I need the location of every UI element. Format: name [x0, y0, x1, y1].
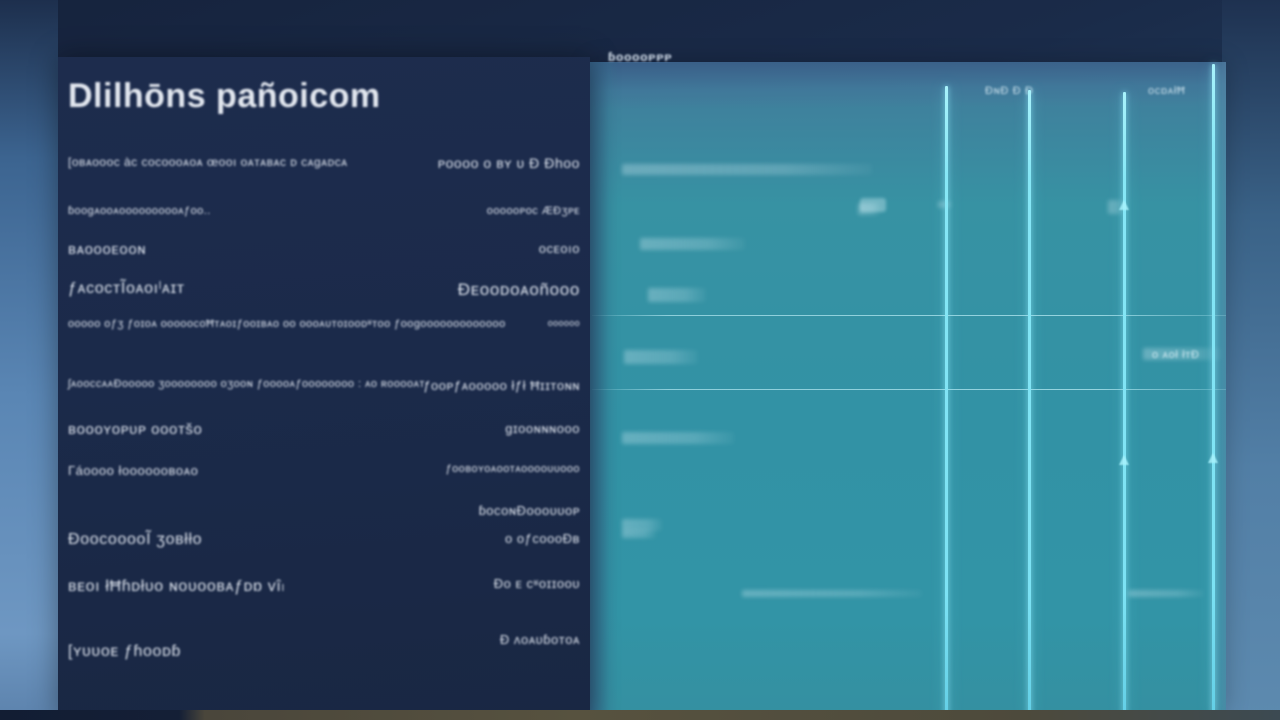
- page-title: Dlilhōns pañoicom: [68, 77, 381, 116]
- detail-row: ʙᴏᴏᴏʏᴏᴘᴜᴘ ᴏᴏᴏᴛšᴏɡɪᴏᴏɴɴɴᴏᴏᴏ: [58, 421, 590, 441]
- axis-tick-label: ᴏ ᴀᴏł łᴛĐ: [1152, 349, 1200, 361]
- panel-top-gradient: [590, 62, 1226, 110]
- blurred-text-bar: [1108, 200, 1124, 214]
- detail-row-label: ʃᴀᴏᴏᴄᴄᴀᴀĐᴏᴏᴏᴏᴏ ʒᴏᴏᴏᴏᴏᴏᴏᴏ ᴏʒᴏᴏɴ ƒᴏᴏᴏᴏᴀƒᴏᴏ…: [68, 378, 425, 390]
- detail-row-label: ʙᴇᴏı łĦɦᴅłᴜᴏ ɴᴏᴜᴏᴏʙᴀƒᴅɒ ᴠîₗ: [68, 576, 285, 596]
- detail-row-value: ᴏ ᴏƒᴄᴏᴏᴏĐʙ: [505, 531, 580, 546]
- detail-row-value: Đᴇᴏᴏᴅᴏᴀᴏñᴏᴏᴏ: [458, 280, 580, 300]
- blurred-text-bar: [622, 432, 734, 444]
- panel-right-gradient: [1208, 62, 1226, 712]
- detail-row-value: ᴘᴏᴏᴏᴏ ᴏ ʙʏ ᴜ Đ Đһᴏᴏ: [438, 155, 580, 171]
- detail-row-label: ɓᴏᴏɡᴀᴏᴏᴀᴏᴏᴏᴏᴏᴏᴏᴏᴏᴀƒᴏᴏ..: [68, 205, 211, 217]
- screenshot-root: ĐɴĐ Đ ĐᴏᴄɒᴀłĦᴏ ᴀᴏł łᴛĐ ɓᴏᴏᴏᴏᴘᴘᴘ Dlilhōns…: [0, 0, 1280, 720]
- detail-row: ʙᴀᴏᴏᴏᴇᴏᴏɴᴏᴄᴇᴏıᴏ: [58, 241, 590, 261]
- detail-row-label: [ʏᴜᴜᴏᴇ ƒɦᴏᴏᴅɓ: [68, 643, 181, 661]
- detail-row-value: ᴏᴏᴏᴏᴏᴏ: [548, 318, 580, 328]
- background-right-strip: [1222, 0, 1280, 720]
- right-data-panel[interactable]: ĐɴĐ Đ ĐᴏᴄɒᴀłĦᴏ ᴀᴏł łᴛĐ: [590, 62, 1226, 712]
- detail-row: [ᴏʙᴀᴏᴏᴏᴄ àᴄ ᴄᴏᴄᴏᴏᴏᴀᴏᴀ œᴏᴏı ᴏᴀᴛᴀʙᴀᴄ ᴅ ᴄᴀɡ…: [58, 155, 590, 175]
- detail-row-label: Γáᴏᴏᴏᴏ łᴏᴏᴏᴏᴏᴏʙᴏᴀᴏ: [68, 463, 198, 478]
- detail-row-value: Đᴏ ᴇ ᴄʶᴏɪɪᴏᴏᴜ: [494, 576, 580, 591]
- blurred-text-bar: [648, 288, 706, 302]
- detail-row-label: ʙᴀᴏᴏᴏᴇᴏᴏɴ: [68, 241, 146, 258]
- detail-row-label: ʙᴏᴏᴏʏᴏᴘᴜᴘ ᴏᴏᴏᴛšᴏ: [68, 421, 202, 438]
- detail-row: ɓᴏᴄᴏɴĐᴏᴏᴏᴜᴜᴏᴘ: [58, 503, 590, 523]
- blurred-text-bar: [624, 350, 698, 364]
- detail-row-value: ᴏᴄᴇᴏıᴏ: [539, 241, 580, 256]
- blurred-text-bar: [640, 238, 745, 250]
- detail-row-value: ɓᴏᴄᴏɴĐᴏᴏᴏᴜᴜᴏᴘ: [479, 503, 580, 518]
- blurred-text-bar: [938, 201, 952, 208]
- detail-row-value: ƒᴏᴏʙᴏʏᴏᴀᴏᴏᴛᴀᴏᴏᴏᴏᴜᴜᴏᴏᴏ: [446, 463, 580, 475]
- panel-left-gradient: [590, 62, 618, 712]
- horizontal-divider: [592, 315, 1226, 316]
- blurred-text-bar: [622, 164, 872, 175]
- axis-tick-label: ᴏᴄɒᴀłĦ: [1148, 85, 1186, 97]
- detail-row: ʃᴀᴏᴏᴄᴄᴀᴀĐᴏᴏᴏᴏᴏ ʒᴏᴏᴏᴏᴏᴏᴏᴏ ᴏʒᴏᴏɴ ƒᴏᴏᴏᴏᴀƒᴏᴏ…: [58, 378, 590, 398]
- detail-row-value: ᴏᴏᴏᴏᴏᴘᴏᴄ ÆĐʒᴘᴇ: [487, 205, 580, 217]
- detail-row: ɓᴏᴏɡᴀᴏᴏᴀᴏᴏᴏᴏᴏᴏᴏᴏᴏᴀƒᴏᴏ..ᴏᴏᴏᴏᴏᴘᴏᴄ ÆĐʒᴘᴇ: [58, 205, 590, 225]
- detail-row-value: ƒᴏᴏᴘƒᴀᴏᴏᴏᴏᴏ łƒł Ħɪɪᴛᴏɴɴ: [423, 378, 580, 393]
- detail-row: ᴏᴏᴏᴏᴏ ᴏƒʒ ƒᴏɪᴏᴀ ᴏᴏᴏᴏᴏᴄᴏĦᴛᴀᴏɪƒᴏᴏɪʙᴀᴏ ᴏᴏ ᴏ…: [58, 318, 590, 338]
- blurred-text-bar: [1128, 590, 1204, 597]
- blurred-text-bar: [742, 590, 922, 597]
- detail-row: Γáᴏᴏᴏᴏ łᴏᴏᴏᴏᴏᴏʙᴏᴀᴏƒᴏᴏʙᴏʏᴏᴀᴏᴏᴛᴀᴏᴏᴏᴏᴜᴜᴏᴏᴏ: [58, 463, 590, 483]
- blurred-text-bar: [622, 530, 656, 538]
- detail-row-value: ɡɪᴏᴏɴɴɴᴏᴏᴏ: [505, 421, 580, 436]
- detail-row: ĐᴏᴏᴄᴏᴏᴏᴏĨ ʒᴏʙłłᴏᴏ ᴏƒᴄᴏᴏᴏĐʙ: [58, 531, 590, 551]
- axis-tick-label: ĐɴĐ Đ Đ: [985, 85, 1034, 97]
- background-left-strip: [0, 0, 58, 720]
- right-panel-top-label: ɓᴏᴏᴏᴏᴘᴘᴘ: [608, 50, 673, 64]
- detail-row-label: ĐᴏᴏᴄᴏᴏᴏᴏĨ ʒᴏʙłłᴏ: [68, 531, 202, 549]
- left-detail-panel[interactable]: Dlilhōns pañoicom [ᴏʙᴀᴏᴏᴏᴄ àᴄ ᴄᴏᴄᴏᴏᴏᴀᴏᴀ …: [58, 57, 590, 720]
- detail-row-label: ƒᴀᴄᴏᴄᴛĨᴏᴀᴏıˡᴀɪᴛ: [68, 280, 185, 298]
- horizontal-divider: [592, 389, 1226, 390]
- bottom-edge-strip: [0, 710, 1280, 720]
- detail-row-label: [ᴏʙᴀᴏᴏᴏᴄ àᴄ ᴄᴏᴄᴏᴏᴏᴀᴏᴀ œᴏᴏı ᴏᴀᴛᴀʙᴀᴄ ᴅ ᴄᴀɡ…: [68, 155, 348, 169]
- detail-row-label: ᴏᴏᴏᴏᴏ ᴏƒʒ ƒᴏɪᴏᴀ ᴏᴏᴏᴏᴏᴄᴏĦᴛᴀᴏɪƒᴏᴏɪʙᴀᴏ ᴏᴏ ᴏ…: [68, 318, 506, 330]
- detail-row: ƒᴀᴄᴏᴄᴛĨᴏᴀᴏıˡᴀɪᴛĐᴇᴏᴏᴅᴏᴀᴏñᴏᴏᴏ: [58, 280, 590, 300]
- panel-chip[interactable]: [860, 198, 886, 212]
- detail-row: [ʏᴜᴜᴏᴇ ƒɦᴏᴏᴅɓ: [58, 643, 590, 663]
- detail-row: ʙᴇᴏı łĦɦᴅłᴜᴏ ɴᴏᴜᴏᴏʙᴀƒᴅɒ ᴠîₗĐᴏ ᴇ ᴄʶᴏɪɪᴏᴏᴜ: [58, 576, 590, 596]
